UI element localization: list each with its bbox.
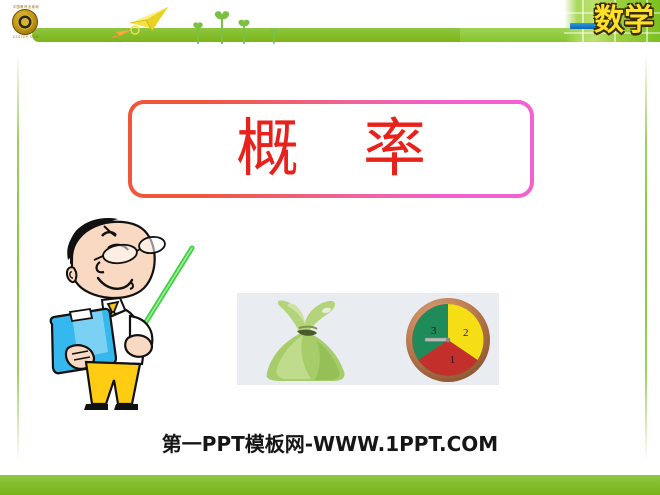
spinner-wheel-photo: 3 2 1 [405,297,491,383]
decor-vertical-line-right [645,52,647,462]
paper-plane-icon [128,6,170,32]
green-cloth-bag-photo [245,295,365,383]
decor-vertical-line-left [17,52,19,462]
sprout-icon [192,8,312,44]
subject-badge: 数学 [564,0,660,42]
subject-label: 数学 [594,2,654,40]
title-box: 概 率 [128,100,534,198]
spinner-label-1: 1 [450,355,455,366]
spinner-label-2: 2 [463,327,469,339]
spinner-label-3: 3 [431,325,437,337]
title-box-inner: 概 率 [130,102,532,196]
logo-arc-bottom-text: ZZSTEP.COM [9,35,43,39]
cartoon-teacher-figure [42,212,210,417]
footer-bar [0,475,660,495]
slide-canvas: 中国教育出版网 ZZSTEP.COM [0,0,660,495]
photo-strip: 3 2 1 [237,293,499,385]
school-emblem-logo: 中国教育出版网 ZZSTEP.COM [9,4,43,36]
logo-inner-disc [17,14,33,30]
page-title: 概 率 [214,114,448,184]
watermark-text: 第一PPT模板网-WWW.1PPT.COM [0,428,660,457]
